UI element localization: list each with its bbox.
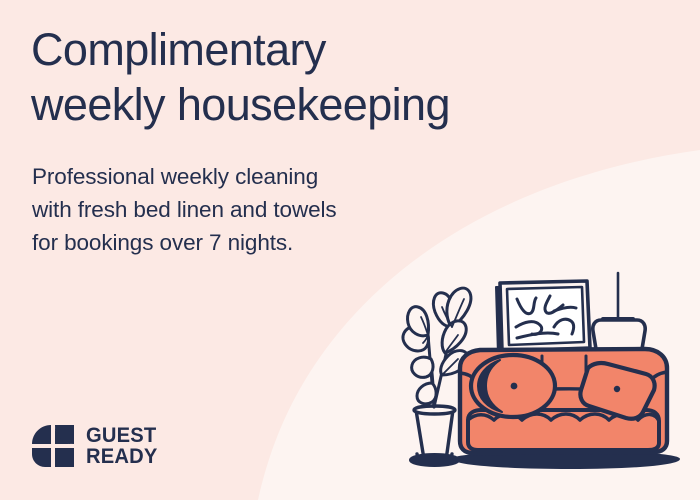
framed-picture-icon: [496, 281, 590, 355]
brand-word-ready: READY: [86, 446, 158, 468]
guestready-mark-icon: [31, 424, 75, 468]
sofa-icon: [452, 349, 680, 469]
living-room-illustration: [390, 255, 700, 500]
brand-wordmark: GUEST READY: [86, 425, 161, 468]
brand-word-guest: GUEST: [86, 425, 158, 447]
round-cushion-icon: [471, 355, 555, 417]
page-subtitle: Professional weekly cleaning with fresh …: [32, 160, 452, 259]
promo-banner: Complimentary weekly housekeeping Profes…: [0, 0, 700, 500]
page-title: Complimentary weekly housekeeping: [31, 22, 631, 132]
brand-logo: GUEST READY: [31, 424, 161, 468]
